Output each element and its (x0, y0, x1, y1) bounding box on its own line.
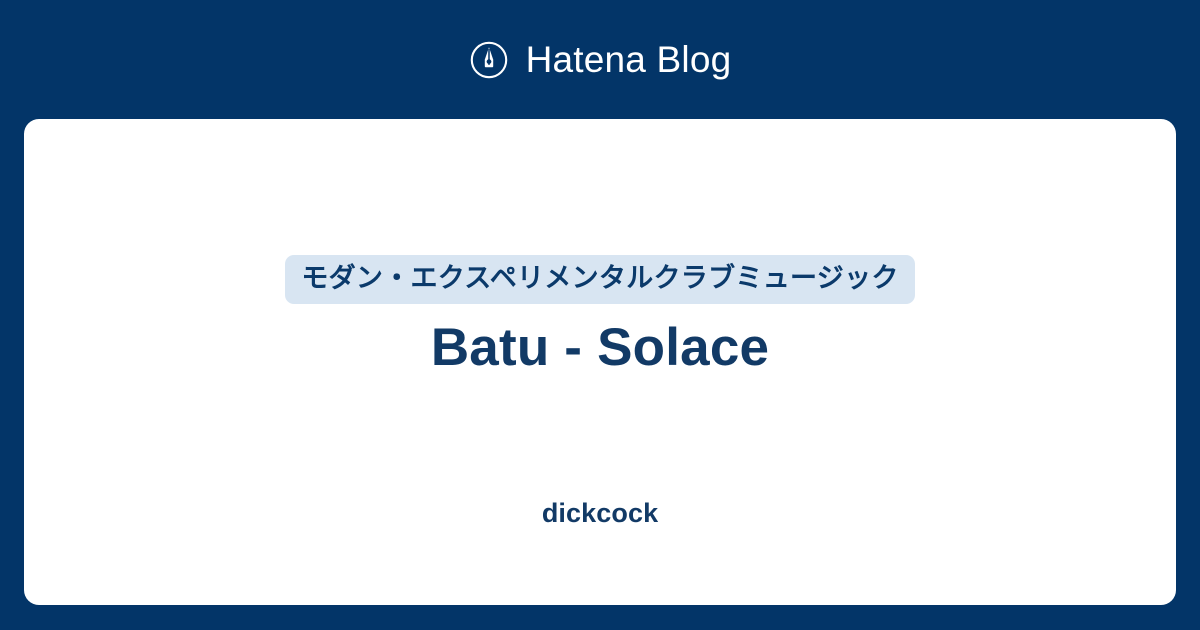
entry-card: モダン・エクスペリメンタルクラブミュージック Batu - Solace dic… (24, 119, 1176, 605)
hatena-blog-brand-bar: Hatena Blog (0, 0, 1200, 119)
entry-card-inner: モダン・エクスペリメンタルクラブミュージック Batu - Solace dic… (24, 119, 1176, 605)
entry-title-row: Batu - Solace (24, 315, 1176, 381)
entry-title: Batu - Solace (431, 315, 769, 381)
blog-name-row: dickcock (24, 500, 1176, 527)
blog-name: dickcock (542, 500, 658, 527)
fountain-pen-nib-circle-icon (469, 40, 509, 80)
hatena-blog-brand-name: Hatena Blog (526, 41, 732, 78)
category-badge: モダン・エクスペリメンタルクラブミュージック (285, 255, 914, 304)
og-image-root: Hatena Blog モダン・エクスペリメンタルクラブミュージック Batu … (0, 0, 1200, 630)
category-badge-row: モダン・エクスペリメンタルクラブミュージック (24, 255, 1176, 304)
